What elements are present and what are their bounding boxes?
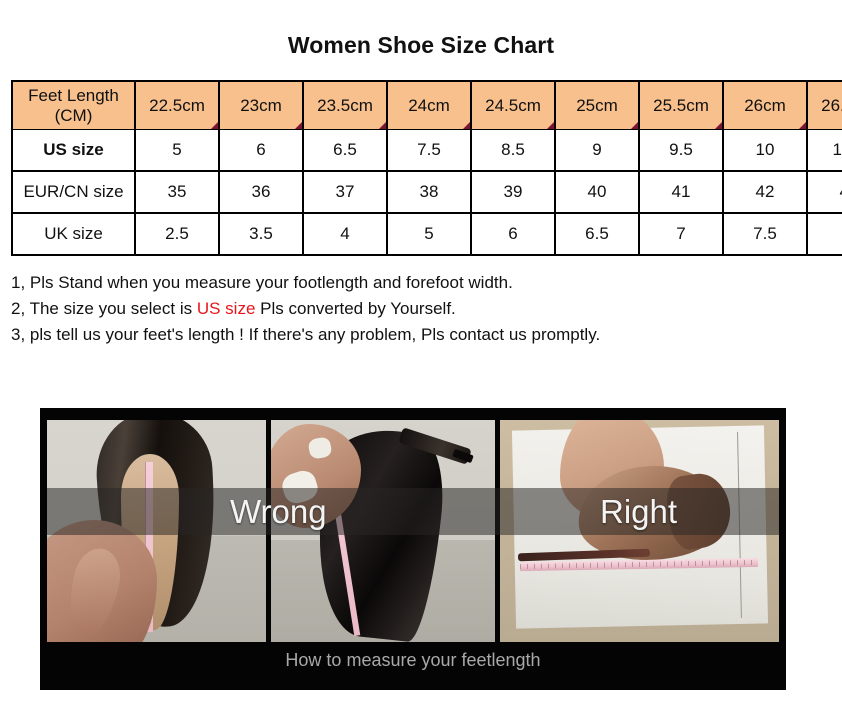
cell-feet-length-0: 22.5cm bbox=[135, 81, 219, 130]
note-2-prefix: 2, The size you select is bbox=[11, 299, 197, 318]
cell-us-8: 10.5 bbox=[807, 130, 842, 172]
note-line-3: 3, pls tell us your feet's length ! If t… bbox=[11, 322, 821, 348]
cell-eur-1: 36 bbox=[219, 171, 303, 213]
how-to-measure-photo-panel: Wrong Right How to measure your feetleng… bbox=[40, 408, 786, 690]
cell-text: 25cm bbox=[576, 96, 618, 115]
cell-us-1: 6 bbox=[219, 130, 303, 172]
row-header-us-size: US size bbox=[12, 130, 135, 172]
cell-uk-0: 2.5 bbox=[135, 213, 219, 255]
cell-eur-4: 39 bbox=[471, 171, 555, 213]
photo3-paper-guide-line bbox=[737, 432, 742, 618]
cell-eur-7: 42 bbox=[723, 171, 807, 213]
cell-feet-length-3: 24cm bbox=[387, 81, 471, 130]
cell-eur-3: 38 bbox=[387, 171, 471, 213]
cell-uk-1: 3.5 bbox=[219, 213, 303, 255]
cell-feet-length-1: 23cm bbox=[219, 81, 303, 130]
cell-us-4: 8.5 bbox=[471, 130, 555, 172]
cell-uk-3: 5 bbox=[387, 213, 471, 255]
page-title: Women Shoe Size Chart bbox=[0, 0, 842, 58]
cell-us-5: 9 bbox=[555, 130, 639, 172]
cell-text: 22.5cm bbox=[149, 96, 205, 115]
photo-caption: How to measure your feetlength bbox=[40, 650, 786, 671]
cell-uk-2: 4 bbox=[303, 213, 387, 255]
note-line-1: 1, Pls Stand when you measure your footl… bbox=[11, 270, 821, 296]
row-header-uk-size: UK size bbox=[12, 213, 135, 255]
cell-text: 26.5cm bbox=[821, 96, 842, 115]
comment-marker-icon bbox=[715, 122, 722, 129]
cell-us-6: 9.5 bbox=[639, 130, 723, 172]
note-2-suffix: Pls converted by Yourself. bbox=[255, 299, 455, 318]
cell-feet-length-7: 26cm bbox=[723, 81, 807, 130]
note-2-emphasis: US size bbox=[197, 299, 256, 318]
cell-uk-6: 7 bbox=[639, 213, 723, 255]
cell-feet-length-4: 24.5cm bbox=[471, 81, 555, 130]
feet-length-label-line2: (CM) bbox=[55, 106, 93, 125]
cell-eur-0: 35 bbox=[135, 171, 219, 213]
row-header-feet-length: Feet Length (CM) bbox=[12, 81, 135, 130]
table-row-eur-cn-size: EUR/CN size 35 36 37 38 39 40 41 42 43 bbox=[12, 171, 842, 213]
notes-list: 1, Pls Stand when you measure your footl… bbox=[11, 270, 821, 348]
right-label: Right bbox=[600, 488, 677, 535]
cell-eur-6: 41 bbox=[639, 171, 723, 213]
cell-text: 23cm bbox=[240, 96, 282, 115]
comment-marker-icon bbox=[211, 122, 218, 129]
table-row-us-size: US size 5 6 6.5 7.5 8.5 9 9.5 10 10.5 bbox=[12, 130, 842, 172]
cell-feet-length-8: 26.5cm bbox=[807, 81, 842, 130]
cell-us-7: 10 bbox=[723, 130, 807, 172]
comment-marker-icon bbox=[631, 122, 638, 129]
table-row-feet-length: Feet Length (CM) 22.5cm 23cm 23.5cm 24cm… bbox=[12, 81, 842, 130]
wrong-label: Wrong bbox=[230, 488, 327, 535]
cell-uk-4: 6 bbox=[471, 213, 555, 255]
comment-marker-icon bbox=[547, 122, 554, 129]
cell-feet-length-6: 25.5cm bbox=[639, 81, 723, 130]
shoe-size-table: Feet Length (CM) 22.5cm 23cm 23.5cm 24cm… bbox=[11, 80, 842, 256]
cell-eur-5: 40 bbox=[555, 171, 639, 213]
comment-marker-icon bbox=[379, 122, 386, 129]
size-table-container: Feet Length (CM) 22.5cm 23cm 23.5cm 24cm… bbox=[11, 80, 831, 256]
cell-uk-5: 6.5 bbox=[555, 213, 639, 255]
row-header-eur-cn-size: EUR/CN size bbox=[12, 171, 135, 213]
cell-uk-8: 8 bbox=[807, 213, 842, 255]
cell-text: 24.5cm bbox=[485, 96, 541, 115]
cell-us-2: 6.5 bbox=[303, 130, 387, 172]
cell-eur-8: 43 bbox=[807, 171, 842, 213]
cell-text: 23.5cm bbox=[317, 96, 373, 115]
cell-text: 24cm bbox=[408, 96, 450, 115]
cell-us-0: 5 bbox=[135, 130, 219, 172]
cell-eur-2: 37 bbox=[303, 171, 387, 213]
cell-text: 26cm bbox=[744, 96, 786, 115]
cell-feet-length-5: 25cm bbox=[555, 81, 639, 130]
comment-marker-icon bbox=[295, 122, 302, 129]
comment-marker-icon bbox=[463, 122, 470, 129]
note-line-2: 2, The size you select is US size Pls co… bbox=[11, 296, 821, 322]
cell-text: 25.5cm bbox=[653, 96, 709, 115]
comment-marker-icon bbox=[799, 122, 806, 129]
cell-uk-7: 7.5 bbox=[723, 213, 807, 255]
feet-length-label-line1: Feet Length bbox=[28, 86, 119, 105]
table-row-uk-size: UK size 2.5 3.5 4 5 6 6.5 7 7.5 8 bbox=[12, 213, 842, 255]
cell-us-3: 7.5 bbox=[387, 130, 471, 172]
cell-feet-length-2: 23.5cm bbox=[303, 81, 387, 130]
